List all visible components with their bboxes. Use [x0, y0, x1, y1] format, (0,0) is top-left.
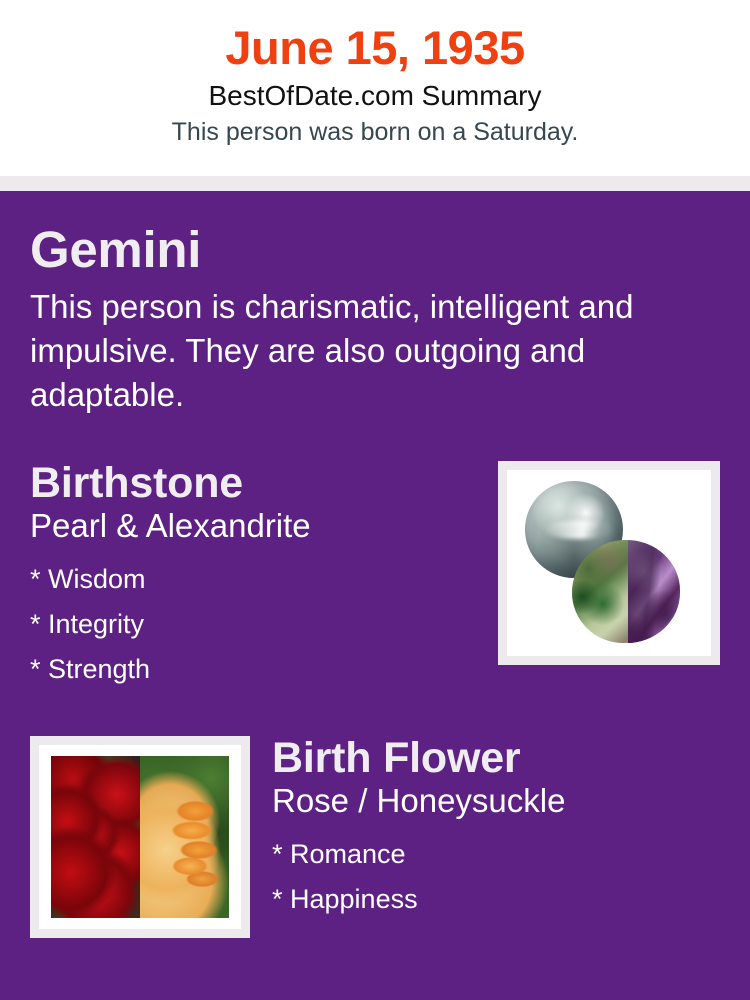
pearl-highlight: [543, 520, 615, 539]
birth-flower-photo-frame: [30, 736, 250, 938]
list-item: * Integrity: [30, 602, 478, 647]
weekday-line: This person was born on a Saturday.: [0, 116, 750, 149]
birthstone-trait-list: * Wisdom * Integrity * Strength: [30, 557, 478, 692]
header-divider: [0, 176, 750, 191]
site-name: BestOfDate.com Summary: [0, 78, 750, 115]
list-item: * Strength: [30, 647, 478, 692]
list-item: * Romance: [272, 832, 720, 877]
page-title-date: June 15, 1935: [0, 22, 750, 75]
header-banner: June 15, 1935 BestOfDate.com Summary Thi…: [0, 0, 750, 176]
birth-flower-trait-list: * Romance * Happiness: [272, 832, 720, 922]
alexandrite-faceted-half: [628, 540, 680, 642]
birth-flower-text-block: Birth Flower Rose / Honeysuckle * Romanc…: [272, 736, 720, 922]
birthstone-title: Birthstone: [30, 461, 478, 506]
roses-photo-half: [51, 756, 140, 918]
birthstone-section: Birthstone Pearl & Alexandrite * Wisdom …: [30, 461, 720, 692]
birthstone-text-block: Birthstone Pearl & Alexandrite * Wisdom …: [30, 461, 478, 692]
birth-flower-photo: [39, 745, 241, 929]
birth-flower-section: Birth Flower Rose / Honeysuckle * Romanc…: [30, 736, 720, 938]
alexandrite-rough-half: [572, 540, 628, 642]
birthstone-photo: [507, 470, 711, 656]
zodiac-description: This person is charismatic, intelligent …: [30, 285, 700, 418]
birthstone-value: Pearl & Alexandrite: [30, 508, 478, 545]
honeysuckle-photo-half: [140, 756, 229, 918]
summary-panel: Gemini This person is charismatic, intel…: [0, 191, 750, 1000]
zodiac-sign-title: Gemini: [30, 191, 720, 275]
list-item: * Happiness: [272, 877, 720, 922]
birth-flower-value: Rose / Honeysuckle: [272, 783, 720, 820]
birthstone-photo-frame: [498, 461, 720, 665]
birth-flower-title: Birth Flower: [272, 736, 720, 781]
alexandrite-gem-icon: [572, 540, 680, 642]
list-item: * Wisdom: [30, 557, 478, 602]
